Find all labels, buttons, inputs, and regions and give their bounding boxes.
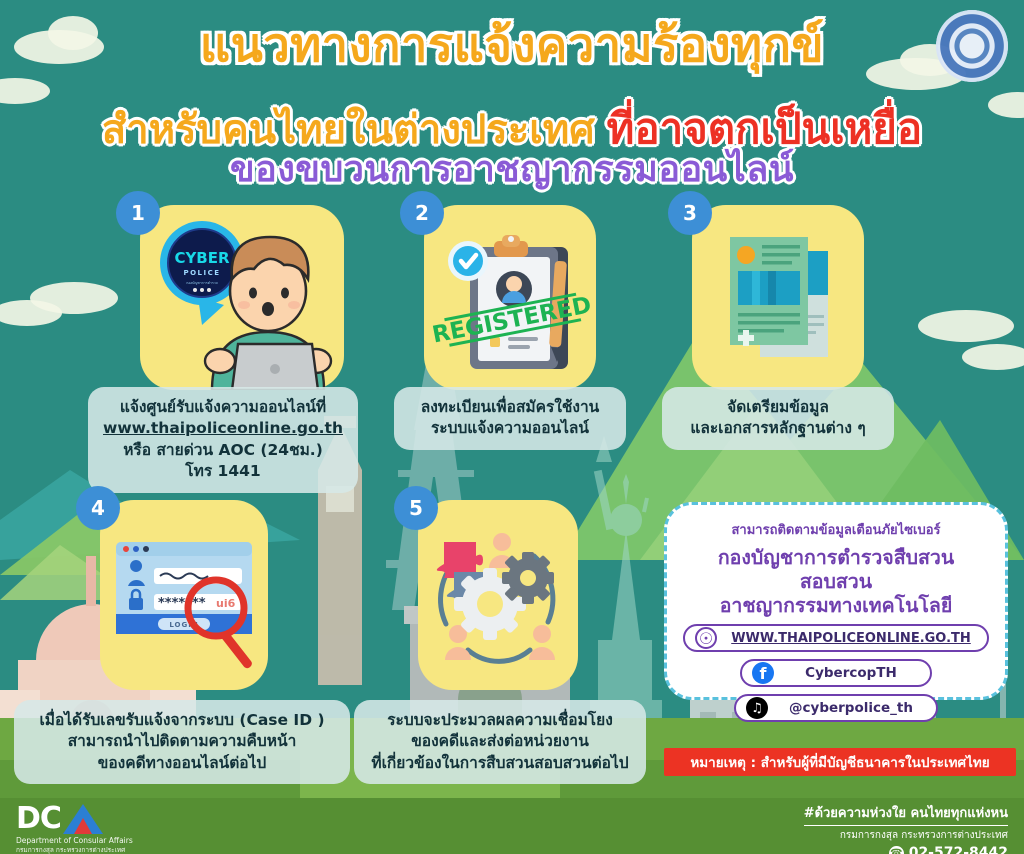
step-5: 5 <box>418 500 578 690</box>
poster-header: แนวทางการแจ้งความร้องทุกข์ สำหรับคนไทยใน… <box>0 0 1024 196</box>
poster-footer: DC Department of Consular Affairs กรมการ… <box>0 798 1024 854</box>
step-5-caption-line-3: ที่เกี่ยวข้องในการสืบสวนสอบสวนต่อไป <box>366 753 634 774</box>
step-1-caption-url[interactable]: www.thaipoliceonline.go.th <box>100 418 346 439</box>
password-mask-text: ******* <box>158 596 206 611</box>
note-banner: หมายเหตุ : สำหรับผู้ที่มีบัญชีธนาคารในปร… <box>664 748 1016 776</box>
tiktok-link-label: @cyberpolice_th <box>776 700 926 716</box>
footer-phone-number: 02-572-8442 <box>909 845 1008 854</box>
clipboard-registered-icon: REGISTERED <box>424 205 596 390</box>
step-5-caption: ระบบจะประมวลผลความเชื่อมโยง ของคดีและส่ง… <box>354 700 646 784</box>
svg-text:กองบัญชาการตำรวจ: กองบัญชาการตำรวจ <box>186 281 218 285</box>
step-2-caption-line-1: ลงทะเบียนเพื่อสมัครใช้งาน <box>406 397 614 418</box>
contact-panel: สามารถติดตามข้อมูลเตือนภัยไซเบอร์ กองบัญ… <box>664 502 1008 700</box>
documents-stack-icon <box>692 205 864 390</box>
dca-logo-mark: DC <box>16 804 133 834</box>
facebook-link-label: CybercopTH <box>782 665 920 681</box>
step-3: 3 จัดเตรียมข้อมูล <box>692 205 864 390</box>
gear-small <box>502 552 554 604</box>
login-window-magnifier-icon: ******* ui6 LOGIN <box>100 500 268 690</box>
footer-phone[interactable]: ☎ 02-572-8442 <box>804 845 1008 854</box>
step-4-caption-line-3: ของคดีทางออนไลน์ต่อไป <box>26 753 338 774</box>
footer-contact: #ด้วยความห่วงใย คนไทยทุกแห่งหน กรมการกงส… <box>804 802 1008 854</box>
step-2-tile: 2 REGISTERED <box>424 205 596 390</box>
step-3-tile: 3 <box>692 205 864 390</box>
gears-people-network-icon <box>418 500 578 690</box>
svg-text:ui6: ui6 <box>216 597 236 610</box>
contact-title: กองบัญชาการตำรวจสืบสวนสอบสวน อาชญากรรมทา… <box>683 546 989 617</box>
title-line-2a: สำหรับคนไทยในต่างประเทศ <box>102 107 595 153</box>
step-5-tile: 5 <box>418 500 578 690</box>
step-1: 1 CYBER POLICE กองบัญชาการตำรวจ <box>140 205 344 390</box>
title-line-3: ของขบวนการอาชญากรรมออนไลน์ <box>0 152 1024 188</box>
step-1-badge: 1 <box>116 191 160 235</box>
step-2-caption-line-2: ระบบแจ้งความออนไลน์ <box>406 418 614 439</box>
dca-logo-en: Department of Consular Affairs <box>16 836 133 845</box>
step-4-tile: 4 ******* ui6 LOGIN <box>100 500 268 690</box>
step-1-caption-line-3: หรือ สายด่วน AOC (24ชม.) <box>100 440 346 461</box>
cyber-badge-text: CYBER <box>174 249 230 267</box>
step-1-tile: 1 CYBER POLICE กองบัญชาการตำรวจ <box>140 205 344 390</box>
facebook-icon: f <box>752 662 774 684</box>
title-line-1: แนวทางการแจ้งความร้องทุกข์ <box>0 22 1024 69</box>
dca-logo: DC Department of Consular Affairs กรมการ… <box>16 804 133 854</box>
contact-subtitle: สามารถติดตามข้อมูลเตือนภัยไซเบอร์ <box>683 519 989 540</box>
step-3-badge: 3 <box>668 191 712 235</box>
step-3-caption-line-2: และเอกสารหลักฐานต่าง ๆ <box>674 418 882 439</box>
facebook-link[interactable]: f CybercopTH <box>740 659 932 687</box>
globe-icon: ☉ <box>695 627 717 649</box>
footer-org: กรมการกงสุล กระทรวงการต่างประเทศ <box>804 825 1008 843</box>
step-3-caption-line-1: จัดเตรียมข้อมูล <box>674 397 882 418</box>
tiktok-link[interactable]: ♫ @cyberpolice_th <box>734 694 938 722</box>
title-line-2b: ที่อาจตกเป็นเหยื่อ <box>607 104 922 153</box>
step-5-caption-line-1: ระบบจะประมวลผลความเชื่อมโยง <box>366 710 634 731</box>
step-1-caption-line-4: โทร 1441 <box>100 461 346 482</box>
dca-triangle-icon <box>63 804 103 834</box>
website-link-label: WWW.THAIPOLICEONLINE.GO.TH <box>725 631 977 646</box>
tiktok-icon: ♫ <box>746 697 768 719</box>
person-laptop-cyber-police-icon: CYBER POLICE กองบัญชาการตำรวจ <box>140 205 344 390</box>
footer-hashtag: #ด้วยความห่วงใย คนไทยทุกแห่งหน <box>804 802 1008 823</box>
step-2-caption: ลงทะเบียนเพื่อสมัครใช้งาน ระบบแจ้งความออ… <box>394 387 626 450</box>
step-1-caption: แจ้งศูนย์รับแจ้งความออนไลน์ที่ www.thaip… <box>88 387 358 493</box>
step-3-caption: จัดเตรียมข้อมูล และเอกสารหลักฐานต่าง ๆ <box>662 387 894 450</box>
royal-thai-police-emblem-icon <box>936 10 1008 82</box>
website-link[interactable]: ☉ WWW.THAIPOLICEONLINE.GO.TH <box>683 624 989 652</box>
dca-logo-text: DC <box>16 804 61 834</box>
contact-title-line-1: กองบัญชาการตำรวจสืบสวนสอบสวน <box>683 546 989 594</box>
dca-logo-th: กรมการกงสุล กระทรวงการต่างประเทศ <box>16 845 133 854</box>
step-4-caption: เมื่อได้รับเลขรับแจ้งจากระบบ (Case ID ) … <box>14 700 350 784</box>
step-5-badge: 5 <box>394 486 438 530</box>
step-1-caption-line-1: แจ้งศูนย์รับแจ้งความออนไลน์ที่ <box>100 397 346 418</box>
step-4-caption-line-1: เมื่อได้รับเลขรับแจ้งจากระบบ (Case ID ) <box>26 710 338 731</box>
step-5-caption-line-2: ของคดีและส่งต่อหน่วยงาน <box>366 731 634 752</box>
police-badge-text: POLICE <box>183 269 220 277</box>
step-4: 4 ******* ui6 LOGIN <box>100 500 268 690</box>
contact-title-line-2: อาชญากรรมทางเทคโนโลยี <box>683 594 989 618</box>
step-4-caption-line-2: สามารถนำไปติดตามความคืบหน้า <box>26 731 338 752</box>
infographic-poster: แนวทางการแจ้งความร้องทุกข์ สำหรับคนไทยใน… <box>0 0 1024 854</box>
step-2: 2 REGISTERED <box>424 205 596 390</box>
step-4-badge: 4 <box>76 486 120 530</box>
step-2-badge: 2 <box>400 191 444 235</box>
phone-icon: ☎ <box>889 846 904 854</box>
